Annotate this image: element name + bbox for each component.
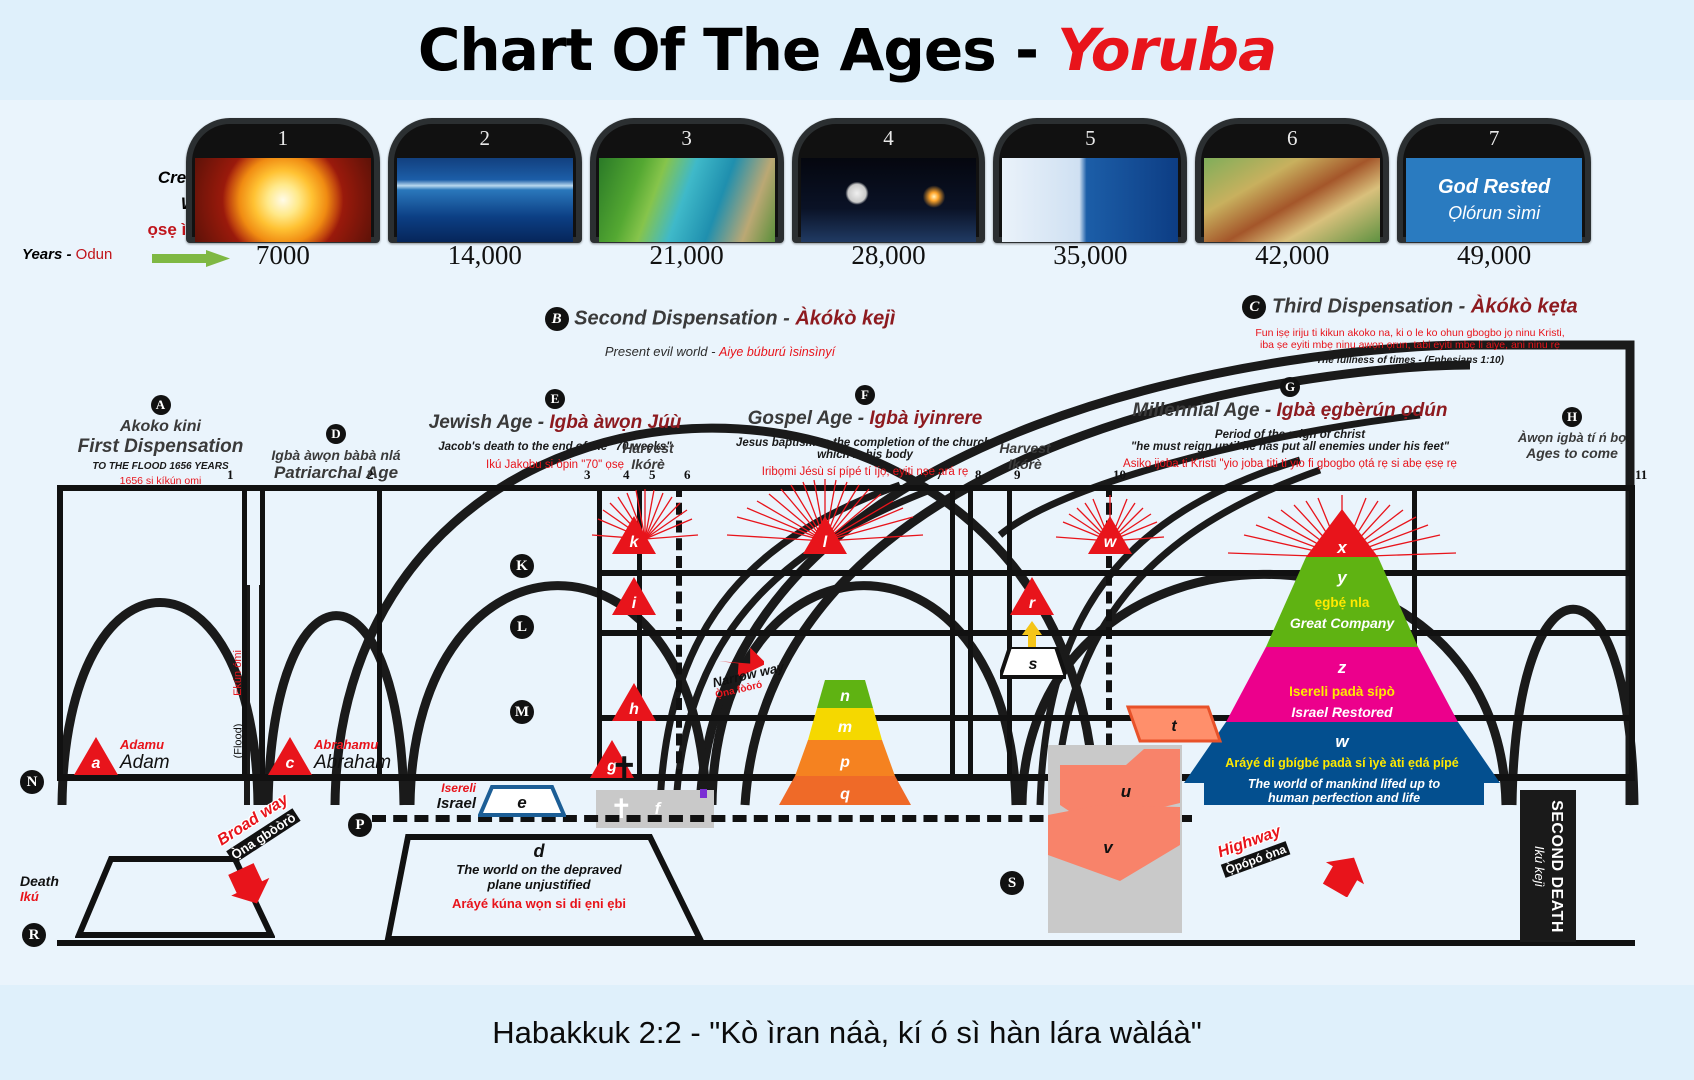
creative-day-2[interactable]: 2 <box>388 118 582 243</box>
day-number: 4 <box>798 126 980 151</box>
age-d-yo: Igbà àwọn bàbà nlá <box>262 447 410 463</box>
day-number: 3 <box>596 126 778 151</box>
year-value: 21,000 <box>590 240 784 271</box>
footer-bar: Habakkuk 2:2 - "Kò ìran náà, kí ó sì hàn… <box>0 985 1694 1080</box>
svg-text:Israel Restored: Israel Restored <box>1291 704 1393 720</box>
year-value: 49,000 <box>1397 240 1591 271</box>
age-a-yo: Akoko kini <box>58 418 263 436</box>
age-h-label: H Àwọn igbà tí ń bọ Ages to come <box>1512 407 1632 461</box>
dispensation-c-yo-line1: Fun iṣẹ iriju ti kikun akoko na, ki o le… <box>1195 327 1625 339</box>
column-number-6: 6 <box>684 467 691 483</box>
god-rested-yo: Ọlórun sìmi <box>1448 203 1540 224</box>
year-value: 14,000 <box>388 240 582 271</box>
marker-i: i <box>612 577 656 615</box>
harvest-1-en: Harvest <box>608 440 688 456</box>
age-e-yo: Igbà àwọn Júù <box>549 412 681 433</box>
harvest-2-yo: Ikórè <box>985 456 1065 472</box>
dispensation-b-heading: B Second Dispensation - Àkókò kejì <box>460 307 980 331</box>
marker-h: h <box>612 683 656 721</box>
harvest-2-en: Harvest <box>985 440 1065 456</box>
age-f-heading: Gospel Age - Igbà iyinrere <box>700 408 1030 430</box>
age-g-sub-en-2: "he must reign until he has put all enem… <box>1060 441 1520 453</box>
god-rested-panel: God Rested Ọlórun sìmi <box>1406 158 1582 242</box>
highway-arrow-icon <box>1322 853 1366 897</box>
svg-text:t: t <box>1171 718 1177 735</box>
age-e-en: Jewish Age - <box>429 412 550 433</box>
marker-r: r <box>1010 577 1054 615</box>
plane-badge-m: M <box>510 700 534 724</box>
age-f-sub-en-2: which is his body <box>700 449 1030 461</box>
year-value: 7000 <box>186 240 380 271</box>
dispensation-c-heading: C Third Dispensation - Àkókò kẹta <box>1195 295 1625 319</box>
column-number-11: 11 <box>1635 467 1647 483</box>
svg-text:s: s <box>1029 656 1038 673</box>
years-row: 7000 14,000 21,000 28,000 35,000 42,000 … <box>186 240 1591 271</box>
title-accent-text: Yoruba <box>1057 16 1276 84</box>
column-number-10: 10 <box>1113 467 1126 483</box>
grid-col-1 <box>57 485 63 781</box>
svg-text:ẹgbẹ́ nla: ẹgbẹ́ nla <box>1315 595 1370 610</box>
page-title: Chart Of The Ages - Yoruba <box>418 16 1276 84</box>
title-bar: Chart Of The Ages - Yoruba <box>0 0 1694 100</box>
svg-text:p: p <box>839 754 850 771</box>
svg-text:v: v <box>1103 838 1114 857</box>
plane-badge-p: P <box>348 813 372 837</box>
grid-col-2 <box>242 485 247 781</box>
creative-day-4[interactable]: 4 <box>792 118 986 243</box>
day-number: 1 <box>192 126 374 151</box>
harvest-1-yo: Ikórè <box>608 456 688 472</box>
cross-icon: ✝ <box>610 753 639 787</box>
svg-text:Isereli padà sípò: Isereli padà sípò <box>1289 684 1395 699</box>
age-e-heading: Jewish Age - Igbà àwọn Júù <box>390 412 720 434</box>
title-main-text: Chart Of The Ages - <box>418 16 1057 84</box>
depraved-label: d The world on the depraved plane unjust… <box>404 841 674 911</box>
badge-b: B <box>545 307 569 331</box>
column-number-3: 3 <box>584 467 591 483</box>
years-label-en: Years <box>22 246 62 263</box>
creative-day-7[interactable]: 7 God Rested Ọlórun sìmi <box>1397 118 1591 243</box>
dispensation-b-yo: Àkókò kejì <box>795 307 895 329</box>
ocean-sky-icon <box>397 158 573 242</box>
grid-col-8 <box>968 485 973 781</box>
trapezoid-s: s <box>1000 647 1066 681</box>
small-pyramid: n m p q <box>735 680 955 805</box>
svg-text:Aráyé di gbígbé padà sí ìyè àt: Aráyé di gbígbé padà sí ìyè àti ẹdá pípé <box>1225 756 1458 770</box>
dispensation-b-sub-en: Present evil world - <box>605 344 719 359</box>
plane-badge-n: N <box>20 770 44 794</box>
column-number-2: 2 <box>367 467 374 483</box>
dispensation-b-sub: Present evil world - Aiye búburú ìsinsìn… <box>460 343 980 361</box>
age-d-label: D Igbà àwọn bàbà nlá Patriarchal Age <box>262 424 410 483</box>
svg-text:u: u <box>1121 782 1132 801</box>
badge-h: H <box>1562 407 1582 427</box>
moon-sun-icon <box>801 158 977 242</box>
age-d-en: Patriarchal Age <box>262 463 410 483</box>
grid-col-9 <box>1007 485 1012 781</box>
creative-day-5[interactable]: 5 <box>993 118 1187 243</box>
marker-adam: a <box>74 737 118 775</box>
plane-badge-l: L <box>510 615 534 639</box>
bottom-rule <box>57 940 1635 946</box>
column-number-8: 8 <box>975 467 982 483</box>
svg-text:x: x <box>1336 538 1348 557</box>
footer-verse: Habakkuk 2:2 - "Kò ìran náà, kí ó sì hàn… <box>492 1015 1202 1051</box>
plane-badge-s: S <box>1000 871 1024 895</box>
badge-a: A <box>151 395 171 415</box>
day-number: 6 <box>1201 126 1383 151</box>
plane-badge-r: R <box>22 923 46 947</box>
second-death-block: SECOND DEATH Ikú kejì <box>1520 790 1576 942</box>
dispensation-b-en: Second Dispensation - <box>574 307 795 329</box>
plane-badge-k: K <box>510 554 534 578</box>
svg-text:n: n <box>840 688 850 705</box>
age-g-sub-en-1: Period of the reign of christ <box>1060 429 1520 441</box>
years-label: Years - Odun <box>22 246 112 263</box>
harvest-2-label: Harvest Ikórè <box>985 440 1065 472</box>
dispensation-b-label: B Second Dispensation - Àkókò kejì Prese… <box>460 307 980 361</box>
year-value: 42,000 <box>1195 240 1389 271</box>
creative-week-days: 1 2 3 4 5 6 7 God Rested Ọlórun sìmi <box>186 118 1591 243</box>
age-g-sub-yo: Asiko ijoba ti Kristi "yio joba titi ti … <box>1060 458 1520 470</box>
age-f-label: F Gospel Age - Igbà iyinrere Jesus bapti… <box>700 385 1030 478</box>
day-number: 2 <box>394 126 576 151</box>
grid-col-11 <box>1629 485 1635 781</box>
trapezoid-e: e <box>478 785 566 819</box>
creative-day-6[interactable]: 6 <box>1195 118 1389 243</box>
broad-way-arrow-icon <box>228 863 270 905</box>
dispensation-c-yo-line2: iba ṣe eyiti mbẹ ninu awọn ọrun, tabi ey… <box>1195 339 1625 351</box>
badge-e: E <box>545 389 565 409</box>
man-animals-icon <box>1204 158 1380 242</box>
dispensation-c-en: Third Dispensation - <box>1272 295 1471 317</box>
age-f-yo: Igbà iyinrere <box>869 408 982 429</box>
svg-text:Great Company: Great Company <box>1290 615 1395 631</box>
age-f-en: Gospel Age - <box>748 408 870 429</box>
death-label: Death Ikú <box>20 873 59 904</box>
age-g-yo: Igbà ẹgbèrún ọdún <box>1276 400 1447 421</box>
column-number-7: 7 <box>936 467 943 483</box>
marker-abraham: c <box>268 737 312 775</box>
age-g-heading: Millennial Age - Igbà ẹgbèrún ọdún <box>1060 400 1520 422</box>
abraham-label: Abrahamu Abraham <box>314 737 391 774</box>
chart-root: Chart Of The Ages - Yoruba Creative Week… <box>0 0 1694 1080</box>
badge-g: G <box>1280 377 1300 397</box>
year-value: 35,000 <box>993 240 1187 271</box>
day-number: 7 <box>1403 126 1585 151</box>
dispensation-c-en-line: The fullness of times - (Ephesians 1:10) <box>1195 355 1625 366</box>
orange-steps: t u v <box>1030 685 1250 935</box>
years-label-yo: Odun <box>76 246 113 263</box>
second-death-text: SECOND DEATH Ikú kejì <box>1532 800 1565 933</box>
harvest-1-label: Harvest Ikórè <box>608 440 688 472</box>
age-g-label: G Millennial Age - Igbà ẹgbèrún ọdún Per… <box>1060 377 1520 470</box>
god-rested-en: God Rested <box>1438 176 1550 199</box>
dispensation-c-yo: Àkókò kẹta <box>1471 295 1578 317</box>
badge-f: F <box>855 385 875 405</box>
svg-text:m: m <box>838 719 852 736</box>
age-f-sub-en-1: Jesus baptism to the completion of the c… <box>700 437 1030 449</box>
israel-label: Isereli Israel <box>398 781 476 812</box>
birds-fish-icon <box>1002 158 1178 242</box>
badge-c: C <box>1242 295 1266 319</box>
svg-text:e: e <box>517 793 526 812</box>
column-number-9: 9 <box>1014 467 1021 483</box>
svg-text:y: y <box>1336 568 1348 587</box>
creative-day-1[interactable]: 1 <box>186 118 380 243</box>
marker-l: l <box>803 516 847 554</box>
explosion-light-icon <box>195 158 371 242</box>
ages-diagram: B Second Dispensation - Àkókò kejì Prese… <box>0 285 1694 985</box>
column-number-1: 1 <box>227 467 234 483</box>
purple-tick <box>700 789 707 798</box>
age-a-en: First Dispensation <box>58 436 263 458</box>
marker-k: k <box>612 516 656 554</box>
svg-text:w: w <box>1335 732 1350 751</box>
badge-d: D <box>326 424 346 444</box>
column-number-4: 4 <box>623 467 630 483</box>
age-g-en: Millennial Age - <box>1133 400 1277 421</box>
marker-w-harvest: w <box>1088 516 1132 554</box>
column-number-5: 5 <box>649 467 656 483</box>
gray-band-f: ✝ f <box>596 790 714 828</box>
creative-day-3[interactable]: 3 <box>590 118 784 243</box>
adam-label: Adamu Adam <box>120 737 170 774</box>
land-vegetation-icon <box>599 158 775 242</box>
grid-col-3 <box>260 485 265 781</box>
dispensation-b-sub-yo: Aiye búburú ìsinsìnyí <box>719 345 835 359</box>
dispensation-c-label: C Third Dispensation - Àkókò kẹta Fun iṣ… <box>1195 295 1625 366</box>
age-h-yo: Àwọn igbà tí ń bọ <box>1512 430 1632 445</box>
day-number: 5 <box>999 126 1181 151</box>
svg-text:z: z <box>1337 658 1347 677</box>
svg-text:q: q <box>840 786 850 803</box>
age-h-en: Ages to come <box>1512 445 1632 461</box>
year-value: 28,000 <box>792 240 986 271</box>
